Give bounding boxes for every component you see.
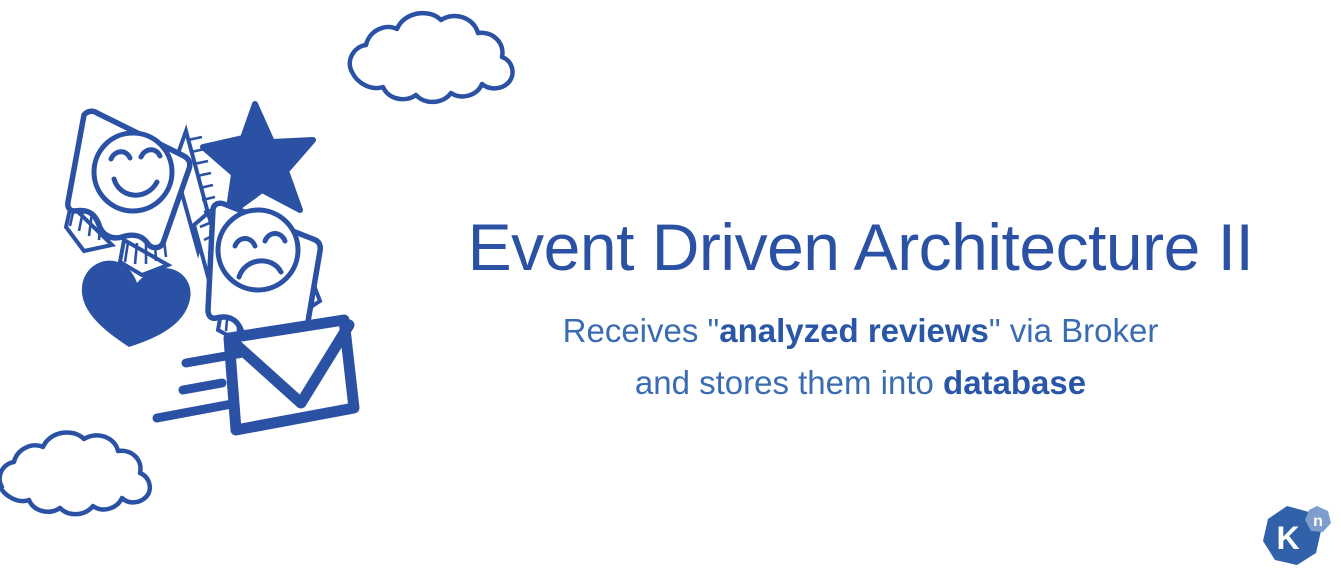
subtitle-line1-suffix: " via Broker <box>989 312 1158 349</box>
subtitle-line2-prefix: and stores them into <box>635 364 943 401</box>
heart-icon <box>82 261 191 347</box>
star-icon <box>203 104 313 215</box>
subtitle-line2-bold: database <box>943 364 1086 401</box>
subtitle-line-2: and stores them into database <box>380 357 1341 409</box>
speed-lines-icon <box>157 353 243 418</box>
subtitle-line1-prefix: Receives " <box>563 312 720 349</box>
subtitle-line1-bold: analyzed reviews <box>719 312 989 349</box>
logo-letter-n: n <box>1313 513 1323 530</box>
page-title: Event Driven Architecture II <box>380 212 1341 283</box>
card-sad-face-icon <box>194 203 320 349</box>
cloud-bottom-left-icon <box>0 432 150 514</box>
logo-letter-k: K <box>1276 520 1299 556</box>
cloud-top-icon <box>350 13 513 102</box>
card-happy-face-icon <box>66 111 215 275</box>
brand-logo: K n <box>1252 502 1338 576</box>
envelope-icon <box>229 320 354 430</box>
subtitle-line-1: Receives "analyzed reviews" via Broker <box>380 305 1341 357</box>
page-subtitle: Receives "analyzed reviews" via Broker a… <box>380 305 1341 409</box>
text-block: Event Driven Architecture II Receives "a… <box>380 212 1341 410</box>
slide-root: Event Driven Architecture II Receives "a… <box>0 0 1341 585</box>
